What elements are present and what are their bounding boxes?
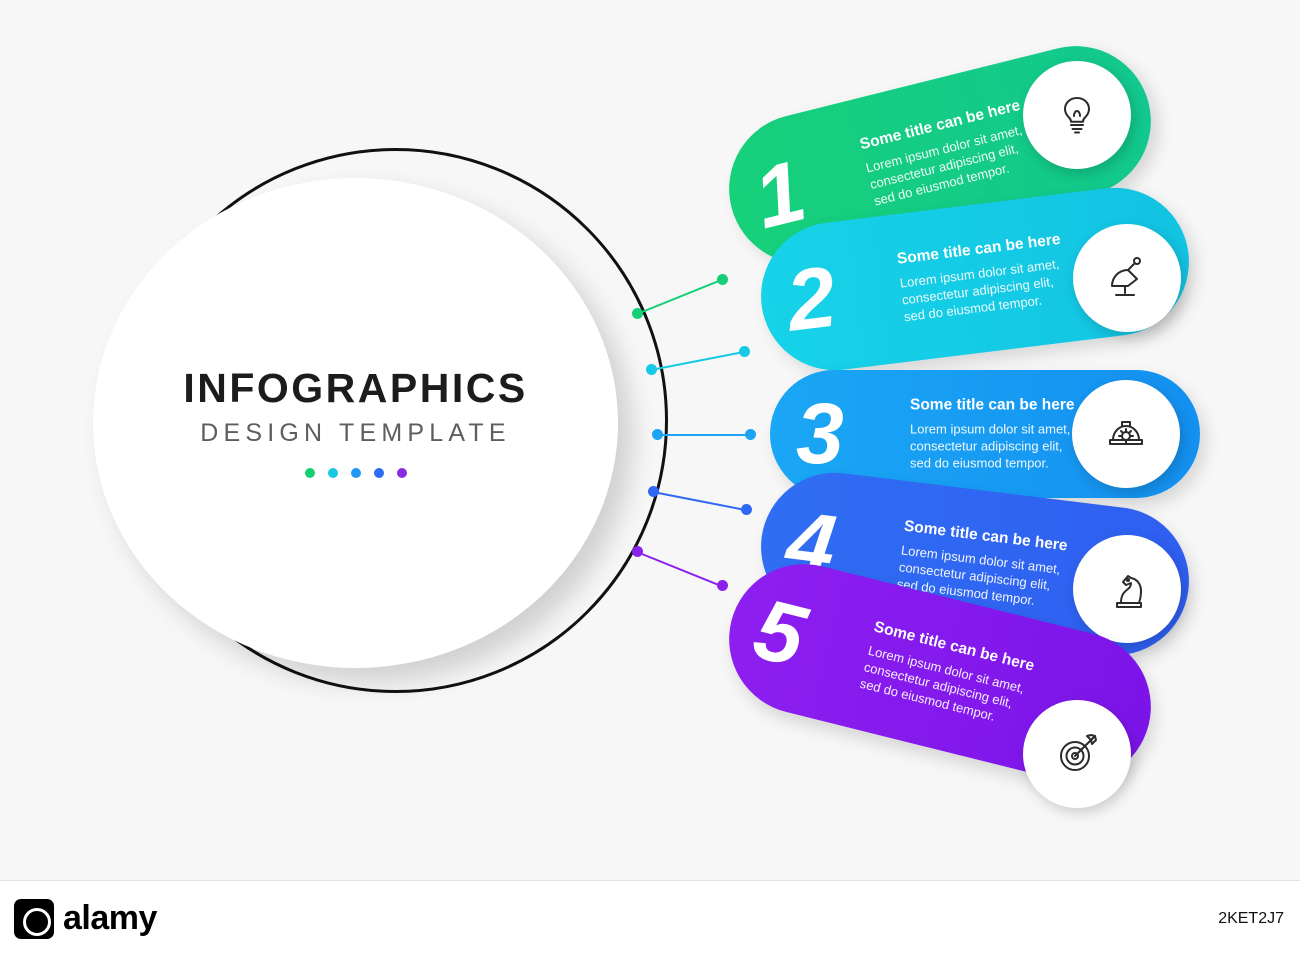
connector-dot-inner-5 <box>632 546 643 557</box>
step-number-5: 5 <box>746 586 811 681</box>
image-id: 2KET2J7 <box>1218 910 1284 928</box>
stock-watermark-bar: alamy 2KET2J7 <box>0 880 1300 956</box>
connector-3 <box>657 434 752 435</box>
connector-line-3 <box>657 434 752 436</box>
center-circle-content: INFOGRAPHICS DESIGN TEMPLATE <box>93 178 618 668</box>
center-dot-4 <box>374 468 384 478</box>
connector-dot-inner-3 <box>652 429 663 440</box>
center-dot-1 <box>305 468 315 478</box>
connector-2 <box>651 369 746 370</box>
connector-4 <box>653 491 748 492</box>
connector-line-5 <box>637 551 723 587</box>
page-title: INFOGRAPHICS <box>183 368 527 409</box>
connector-dot-inner-1 <box>632 308 643 319</box>
center-dot-row <box>305 468 407 478</box>
target-dart-icon <box>1051 728 1103 780</box>
step-icon-badge-1[interactable] <box>1023 61 1131 169</box>
satellite-dish-icon <box>1101 252 1153 304</box>
connector-dot-inner-2 <box>646 364 657 375</box>
step-icon-badge-3[interactable] <box>1072 380 1180 488</box>
connector-dot-inner-4 <box>648 486 659 497</box>
connector-dot-outer-4 <box>741 504 752 515</box>
connector-line-1 <box>637 279 723 315</box>
step-number-3: 3 <box>796 391 842 477</box>
lightbulb-icon <box>1051 89 1103 141</box>
connector-5 <box>637 551 732 552</box>
connector-dot-outer-1 <box>717 274 728 285</box>
alamy-logo: alamy <box>14 899 157 939</box>
step-number-2: 2 <box>782 254 838 345</box>
step-number-1: 1 <box>746 148 811 243</box>
connector-line-4 <box>653 491 747 511</box>
center-dot-5 <box>397 468 407 478</box>
alamy-wordmark: alamy <box>63 899 157 938</box>
page-subtitle: DESIGN TEMPLATE <box>200 421 510 446</box>
helmet-gear-icon <box>1100 408 1152 460</box>
infographic-canvas: INFOGRAPHICS DESIGN TEMPLATE <box>0 0 1300 956</box>
step-icon-badge-4[interactable] <box>1073 535 1181 643</box>
center-dot-3 <box>351 468 361 478</box>
center-dot-2 <box>328 468 338 478</box>
connector-dot-outer-3 <box>745 429 756 440</box>
connector-dot-outer-2 <box>739 346 750 357</box>
step-icon-badge-5[interactable] <box>1023 700 1131 808</box>
connector-dot-outer-5 <box>717 580 728 591</box>
alamy-mark-icon <box>14 899 54 939</box>
chess-knight-icon <box>1101 563 1153 615</box>
connector-1 <box>637 313 727 314</box>
connector-line-2 <box>651 351 745 371</box>
step-icon-badge-2[interactable] <box>1073 224 1181 332</box>
